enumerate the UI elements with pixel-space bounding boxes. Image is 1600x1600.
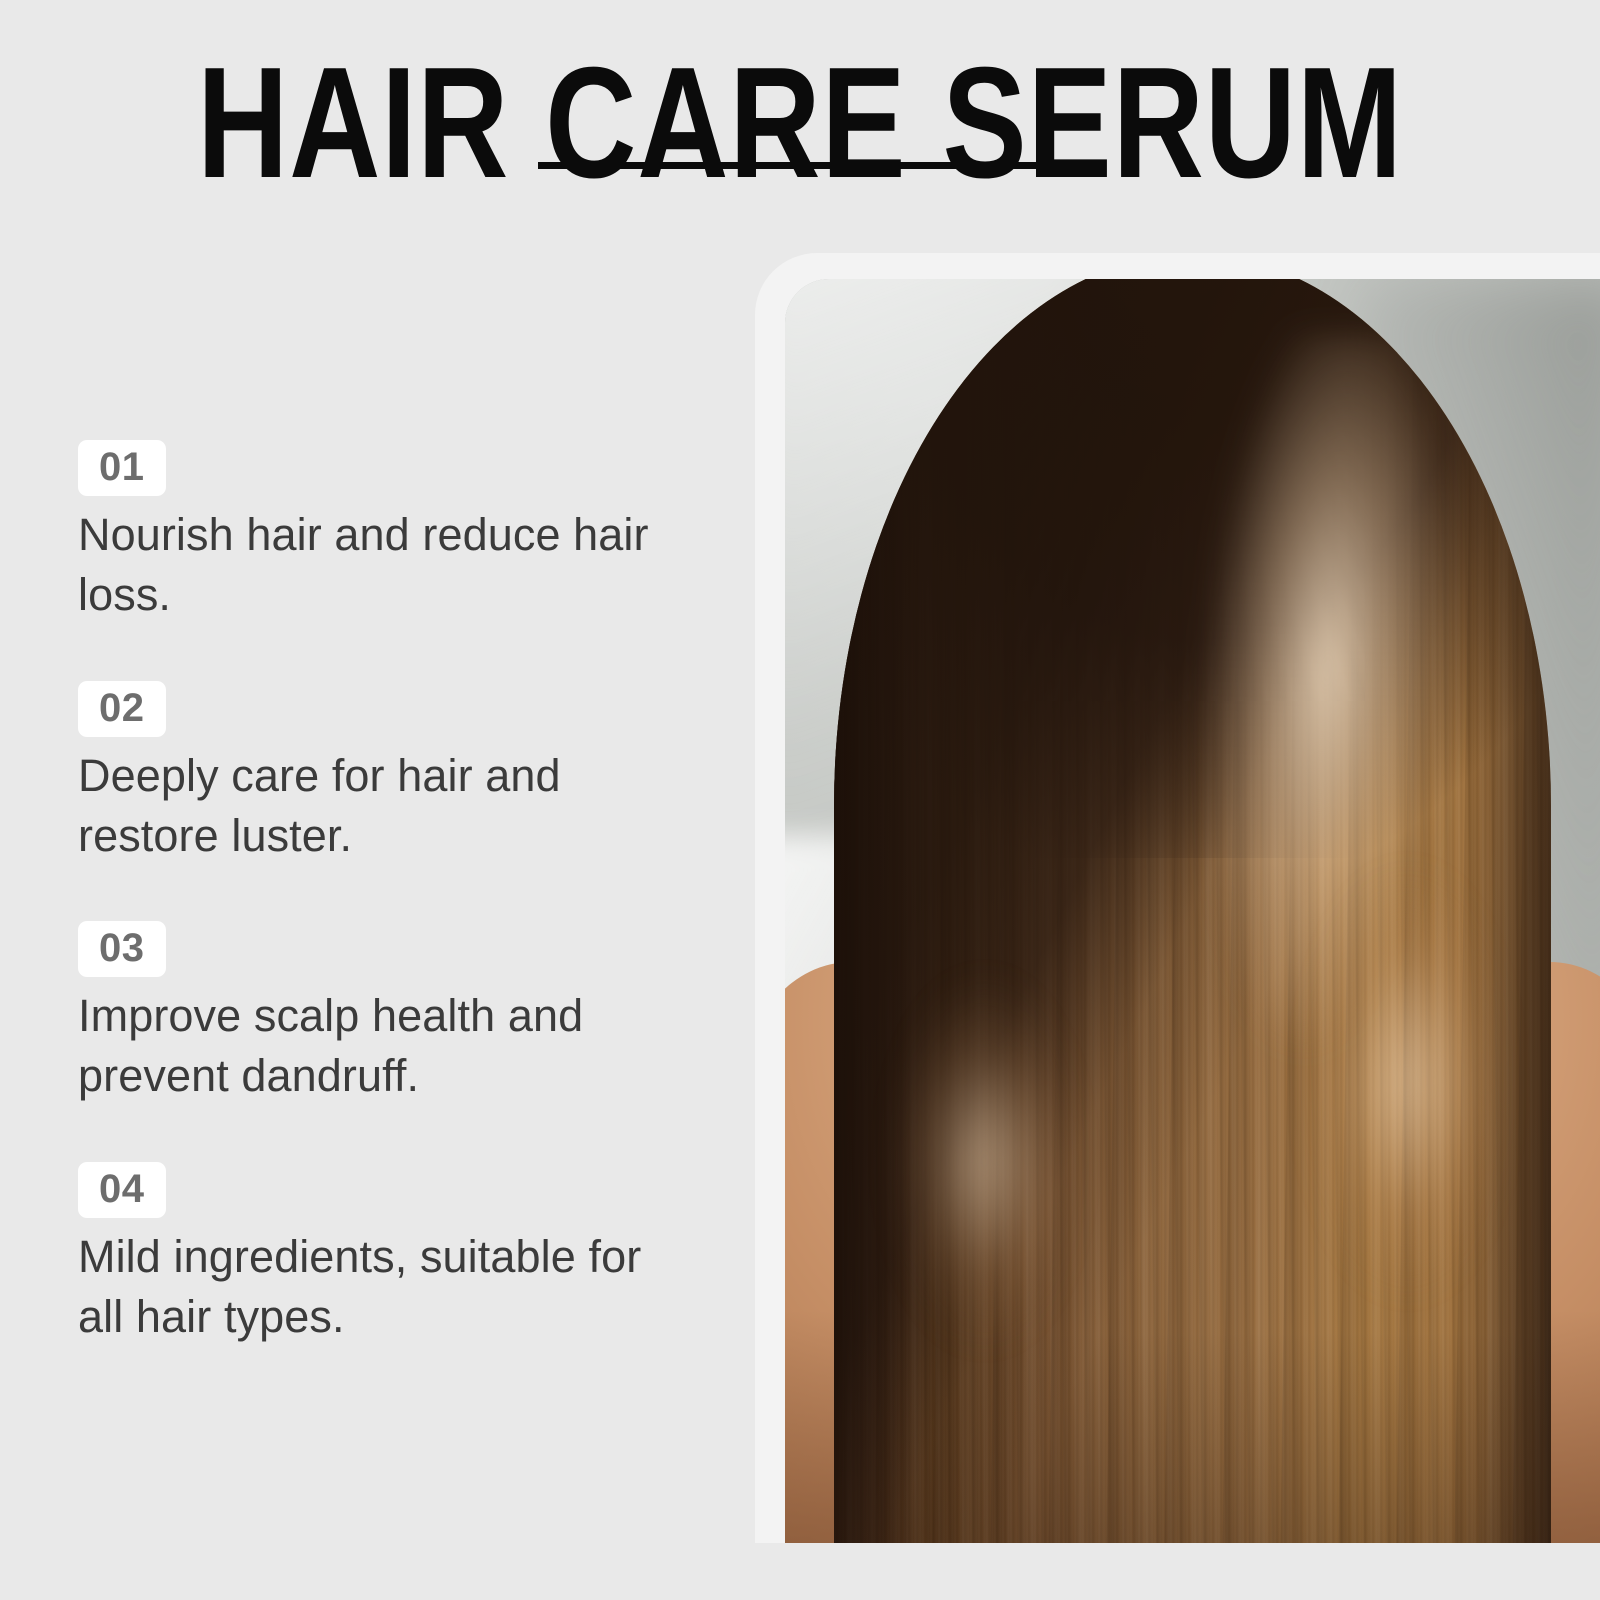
hair-mass [834,279,1551,1543]
feature-description: Deeply care for hair and restore luster. [78,746,678,866]
title-block: HAIR CARE SERUM [0,44,1600,202]
feature-description: Improve scalp health and prevent dandruf… [78,986,678,1106]
photo-composite [785,279,1600,1543]
feature-number-badge: 03 [78,921,166,977]
feature-number-badge: 02 [78,681,166,737]
feature-item-04: 04 Mild ingredients, suitable for all ha… [78,1162,698,1347]
feature-number-badge: 01 [78,440,166,496]
feature-list: 01 Nourish hair and reduce hair loss. 02… [78,440,698,1347]
product-photo [785,279,1600,1543]
feature-number-badge: 04 [78,1162,166,1218]
feature-description: Mild ingredients, suitable for all hair … [78,1227,678,1347]
title-underline-rule [538,162,1076,169]
feature-item-02: 02 Deeply care for hair and restore lust… [78,681,698,866]
feature-description: Nourish hair and reduce hair loss. [78,505,678,625]
poster-canvas: HAIR CARE SERUM 01 Nourish hair and redu… [0,0,1600,1600]
page-title: HAIR CARE SERUM [160,44,1440,202]
photo-card [755,253,1600,1543]
feature-item-01: 01 Nourish hair and reduce hair loss. [78,440,698,625]
feature-item-03: 03 Improve scalp health and prevent dand… [78,921,698,1106]
hair-bottom-shading [834,1332,1551,1543]
